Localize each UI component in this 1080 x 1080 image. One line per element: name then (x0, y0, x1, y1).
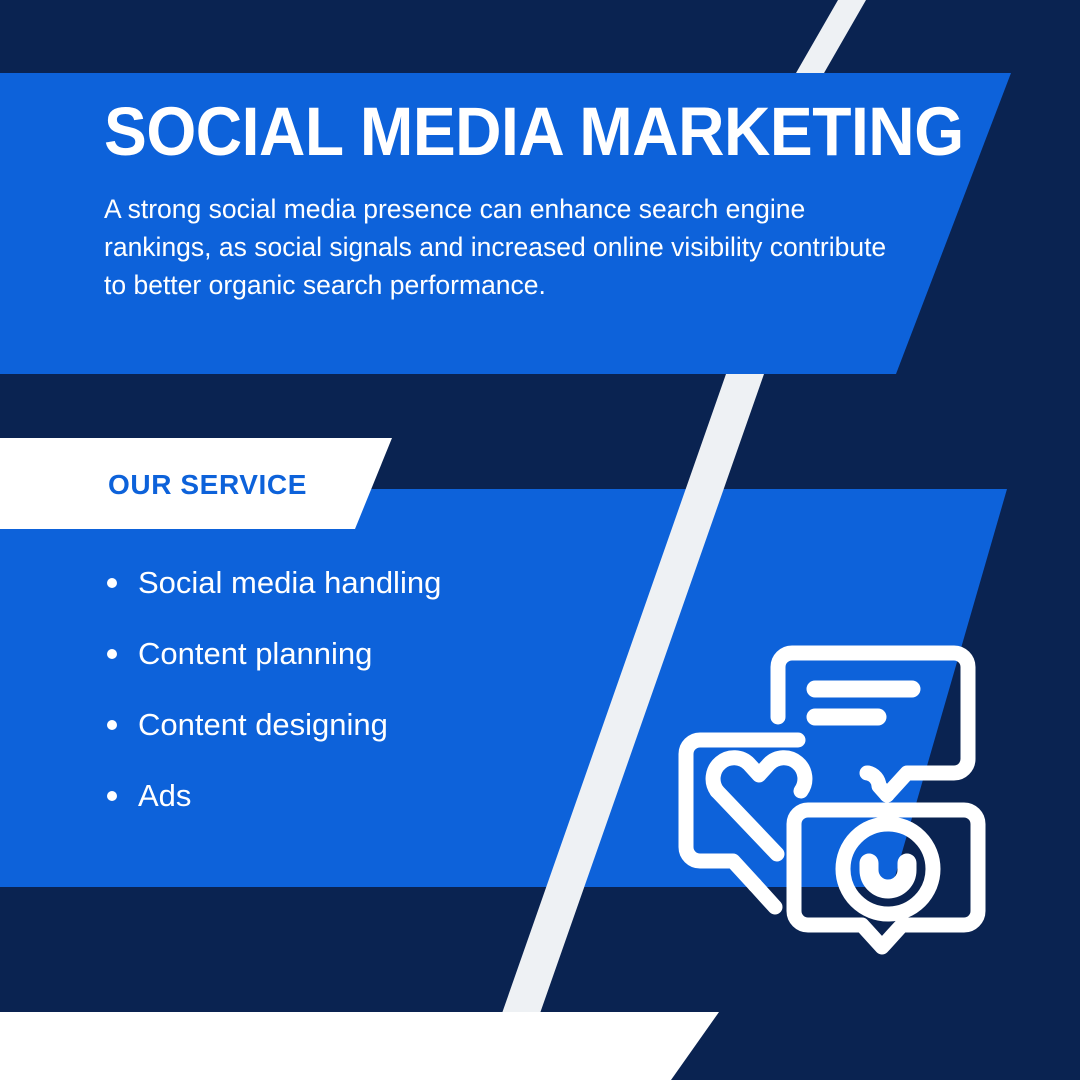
header-body-text: A strong social media presence can enhan… (104, 190, 904, 304)
list-item-label: Ads (138, 778, 191, 813)
bullet-icon (107, 578, 117, 588)
poster-canvas: SOCIAL MEDIA MARKETING A strong social m… (0, 0, 1080, 1080)
list-item-label: Social media handling (138, 565, 441, 600)
list-item: Content designing (104, 708, 441, 742)
list-item-label: Content designing (138, 707, 388, 742)
message-bubble-smiley-icon (794, 810, 978, 947)
list-item: Content planning (104, 637, 441, 671)
service-section-label: OUR SERVICE (108, 469, 307, 501)
list-item: Ads (104, 779, 441, 813)
top-diagonal-stripe (0, 0, 1080, 80)
service-list: Social media handling Content planning C… (104, 566, 441, 850)
list-item-label: Content planning (138, 636, 372, 671)
bullet-icon (107, 791, 117, 801)
bottom-white-band (0, 1012, 1080, 1080)
bullet-icon (107, 649, 117, 659)
bullet-icon (107, 720, 117, 730)
list-item: Social media handling (104, 566, 441, 600)
page-title: SOCIAL MEDIA MARKETING (104, 97, 876, 166)
chat-bubbles-illustration (660, 635, 1020, 980)
